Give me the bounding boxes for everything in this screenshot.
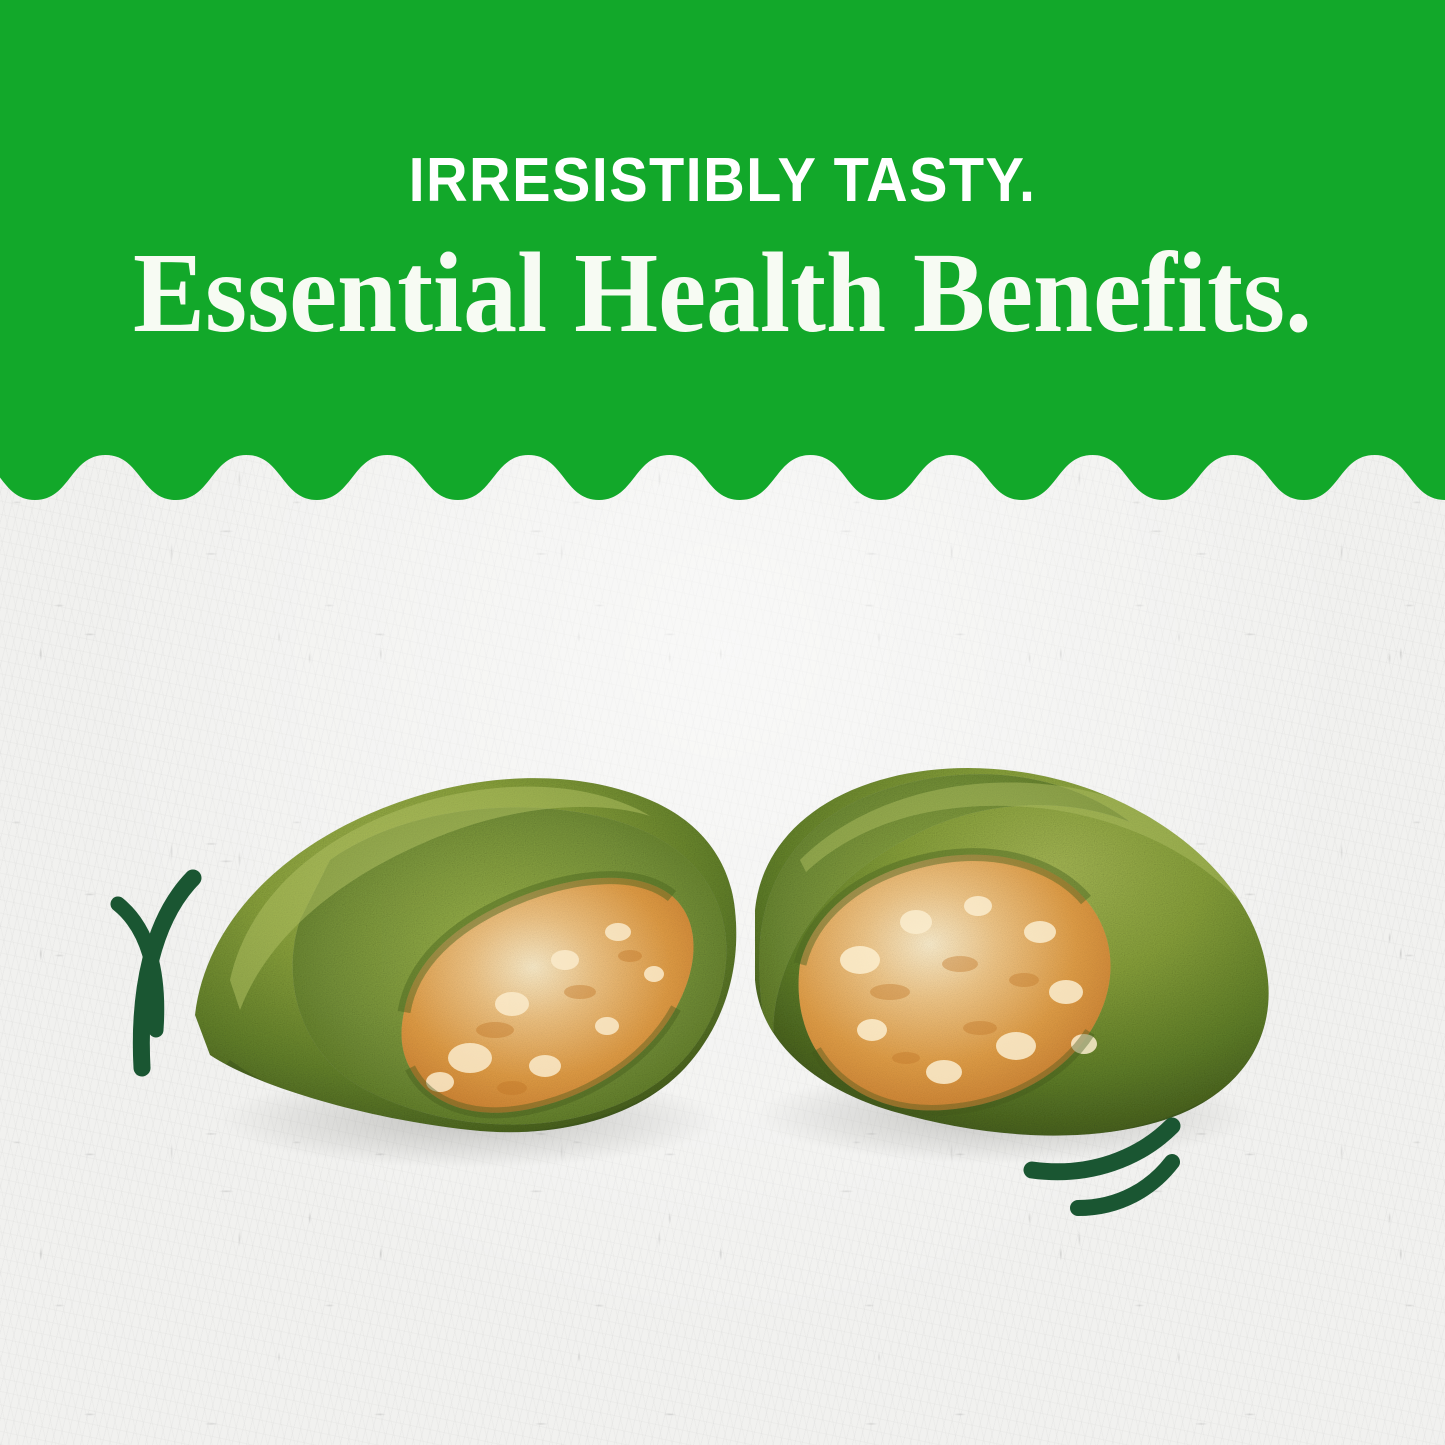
product-photo bbox=[0, 560, 1445, 1445]
motion-arc-left-inner bbox=[141, 878, 193, 1068]
product-benefit-banner: IRRESISTIBLY TASTY. Essential Health Ben… bbox=[0, 0, 1445, 1445]
motion-arcs-left bbox=[118, 878, 193, 1068]
header-band bbox=[0, 0, 1445, 545]
header-wave-shape bbox=[0, 0, 1445, 500]
